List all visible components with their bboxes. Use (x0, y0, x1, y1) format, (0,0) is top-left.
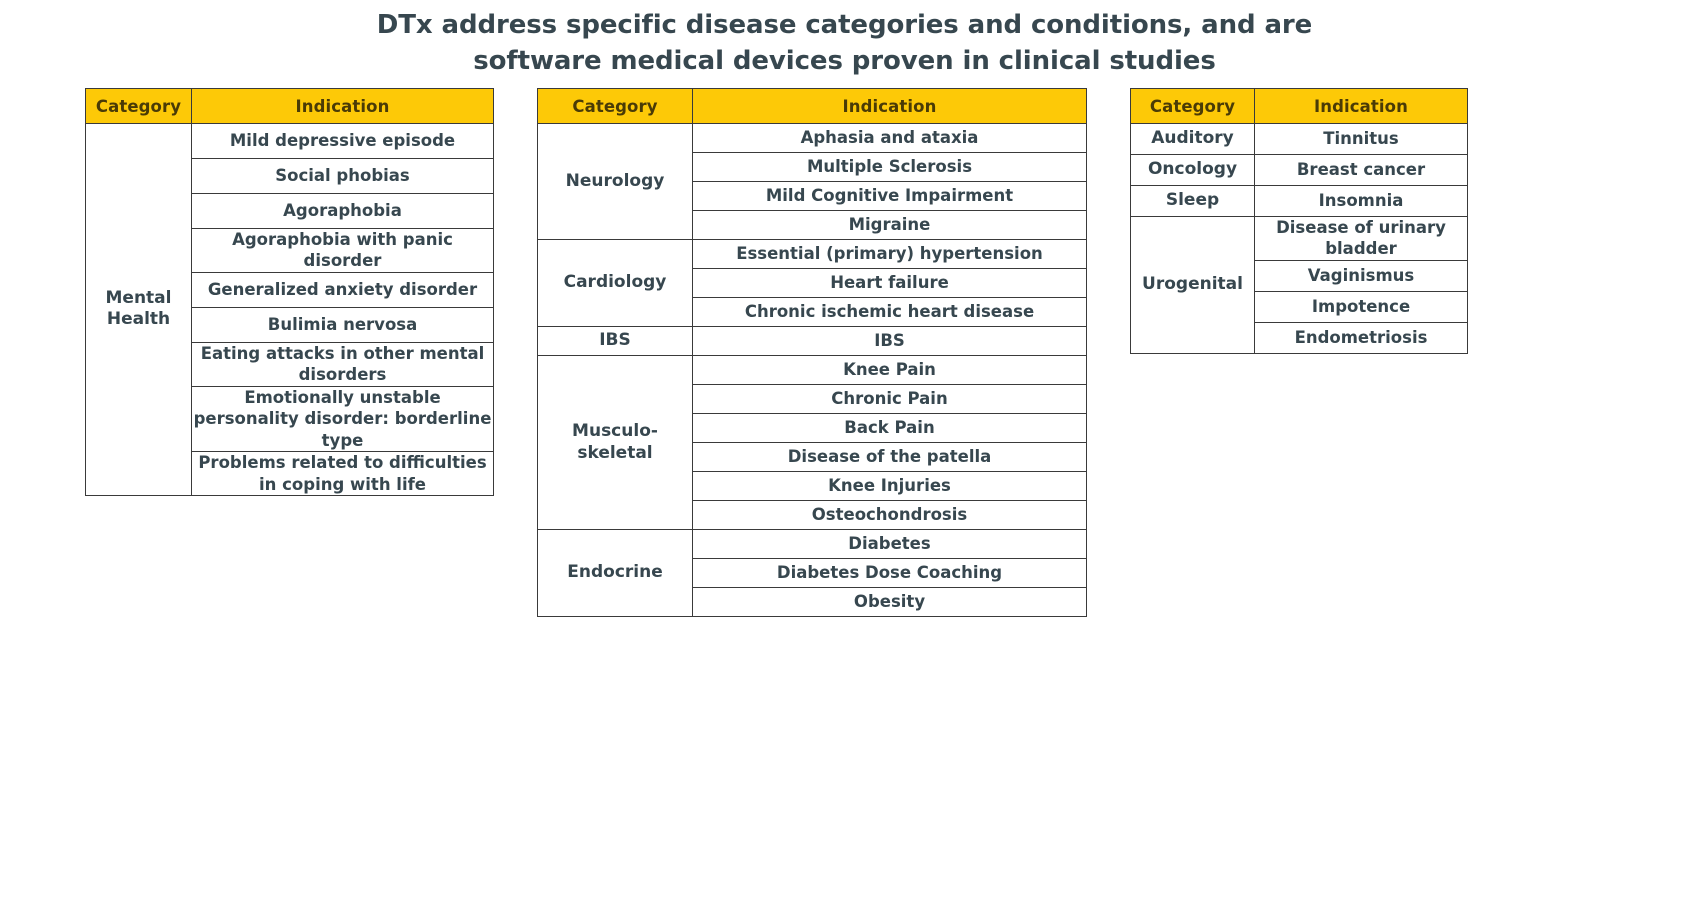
indication-cell: Tinnitus (1255, 124, 1468, 155)
table-row: Cardiology Essential (primary) hypertens… (538, 240, 1087, 269)
indication-cell: Knee Pain (693, 356, 1087, 385)
indication-cell: Heart failure (693, 269, 1087, 298)
indication-cell: Multiple Sclerosis (693, 153, 1087, 182)
category-cell-musculoskeletal: Musculo- skeletal (538, 356, 693, 530)
table-mental-health: Category Indication Mental Health Mild d… (85, 88, 494, 496)
indication-cell: Essential (primary) hypertension (693, 240, 1087, 269)
indication-cell: Disease of the patella (693, 443, 1087, 472)
table-row: Mental Health Mild depressive episode (86, 124, 494, 159)
table-row: Neurology Aphasia and ataxia (538, 124, 1087, 153)
category-cell-endocrine: Endocrine (538, 530, 693, 617)
category-cell-sleep: Sleep (1131, 186, 1255, 217)
table-header-row: Category Indication (86, 89, 494, 124)
indication-cell: Vaginismus (1255, 260, 1468, 291)
indication-cell: Disease of urinary bladder (1255, 217, 1468, 261)
category-label-line-2: skeletal (577, 443, 652, 463)
table-mental-health-head: Category Indication (86, 89, 494, 124)
indication-cell: Obesity (693, 588, 1087, 617)
category-cell-cardiology: Cardiology (538, 240, 693, 327)
table-row: Auditory Tinnitus (1131, 124, 1468, 155)
page-title-line-2: software medical devices proven in clini… (0, 44, 1689, 80)
indication-cell: Chronic Pain (693, 385, 1087, 414)
category-label-line-2: Health (107, 309, 170, 329)
indication-cell: Bulimia nervosa (192, 307, 494, 342)
indication-cell: Eating attacks in other mental disorders (192, 342, 494, 386)
indication-cell: Chronic ischemic heart disease (693, 298, 1087, 327)
table-header-row: Category Indication (538, 89, 1087, 124)
category-label-line-1: Musculo- (572, 421, 658, 441)
indication-cell: Social phobias (192, 159, 494, 194)
indication-cell: Breast cancer (1255, 155, 1468, 186)
table-row: Sleep Insomnia (1131, 186, 1468, 217)
indication-cell: Endometriosis (1255, 322, 1468, 353)
indication-cell: Problems related to difficulties in copi… (192, 452, 494, 496)
table-middle-head: Category Indication (538, 89, 1087, 124)
column-header-indication: Indication (1255, 89, 1468, 124)
category-cell-mental-health: Mental Health (86, 124, 192, 496)
column-header-category: Category (1131, 89, 1255, 124)
indication-cell: Mild depressive episode (192, 124, 494, 159)
indication-cell: Diabetes Dose Coaching (693, 559, 1087, 588)
indication-cell: Diabetes (693, 530, 1087, 559)
column-header-indication: Indication (192, 89, 494, 124)
table-right-head: Category Indication (1131, 89, 1468, 124)
indication-cell: Knee Injuries (693, 472, 1087, 501)
table-row: Urogenital Disease of urinary bladder (1131, 217, 1468, 261)
column-header-category: Category (86, 89, 192, 124)
indication-cell: Emotionally unstable personality disorde… (192, 386, 494, 451)
indication-cell: Back Pain (693, 414, 1087, 443)
table-row: IBS IBS (538, 327, 1087, 356)
category-cell-neurology: Neurology (538, 124, 693, 240)
table-row: Endocrine Diabetes (538, 530, 1087, 559)
table-right: Category Indication Auditory Tinnitus On… (1130, 88, 1468, 354)
indication-cell: Agoraphobia (192, 194, 494, 229)
indication-cell: Osteochondrosis (693, 501, 1087, 530)
column-header-indication: Indication (693, 89, 1087, 124)
category-cell-auditory: Auditory (1131, 124, 1255, 155)
indication-cell: Agoraphobia with panic disorder (192, 229, 494, 273)
table-right-body: Auditory Tinnitus Oncology Breast cancer… (1131, 124, 1468, 354)
category-cell-ibs: IBS (538, 327, 693, 356)
category-label-line-1: Mental (106, 288, 172, 308)
indication-cell: Migraine (693, 211, 1087, 240)
indication-cell: Insomnia (1255, 186, 1468, 217)
table-row: Oncology Breast cancer (1131, 155, 1468, 186)
indication-cell: Generalized anxiety disorder (192, 272, 494, 307)
indication-cell: Mild Cognitive Impairment (693, 182, 1087, 211)
indication-cell: Impotence (1255, 291, 1468, 322)
column-header-category: Category (538, 89, 693, 124)
indication-cell: Aphasia and ataxia (693, 124, 1087, 153)
page-title: DTx address specific disease categories … (0, 8, 1689, 80)
table-mental-health-body: Mental Health Mild depressive episode So… (86, 124, 494, 496)
category-cell-urogenital: Urogenital (1131, 217, 1255, 354)
indication-cell: IBS (693, 327, 1087, 356)
table-middle: Category Indication Neurology Aphasia an… (537, 88, 1087, 617)
table-row: Musculo- skeletal Knee Pain (538, 356, 1087, 385)
category-cell-oncology: Oncology (1131, 155, 1255, 186)
page-title-line-1: DTx address specific disease categories … (0, 8, 1689, 44)
table-header-row: Category Indication (1131, 89, 1468, 124)
table-middle-body: Neurology Aphasia and ataxia Multiple Sc… (538, 124, 1087, 617)
